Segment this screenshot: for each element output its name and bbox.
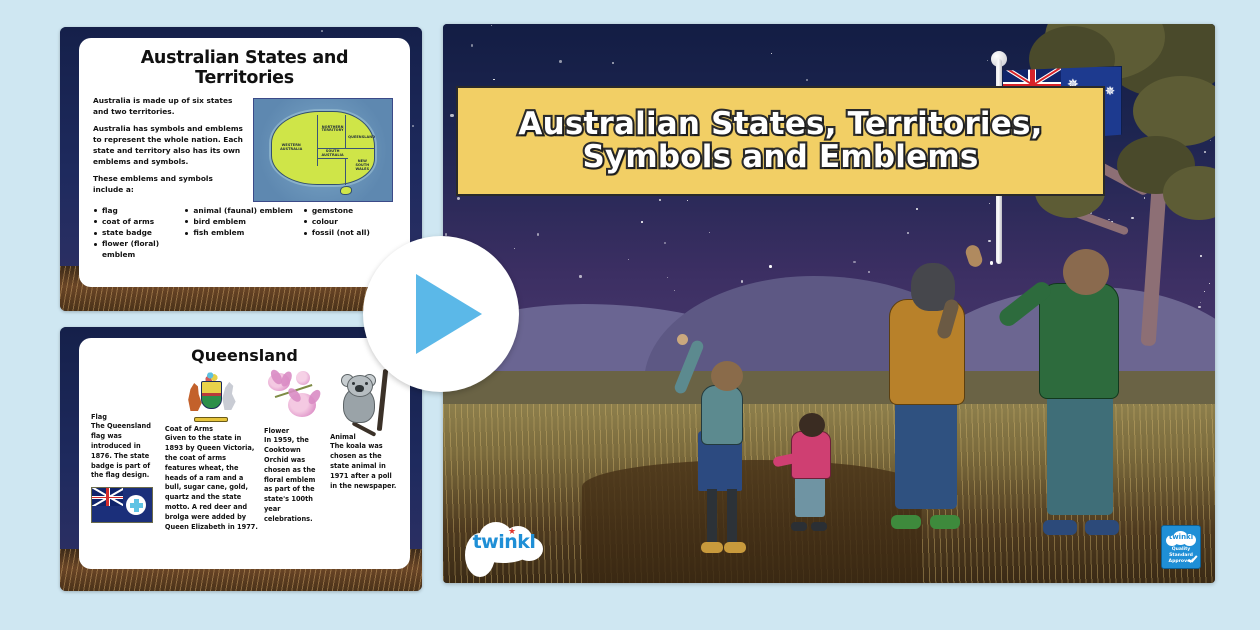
list-item: bird emblem bbox=[184, 216, 300, 227]
map-label-sa: SOUTH AUSTRALIA bbox=[320, 150, 345, 158]
main-title-line-2: Symbols and Emblems bbox=[582, 139, 978, 175]
slide-thumbnail-1[interactable]: Australian States and Territories Austra… bbox=[60, 27, 422, 311]
map-label-wa: WESTERN AUSTRALIA bbox=[275, 144, 308, 152]
check-icon bbox=[1187, 556, 1198, 567]
star bbox=[321, 30, 323, 32]
list-item: fossil (not all) bbox=[303, 227, 396, 238]
preview-stage: Australian States and Territories Austra… bbox=[0, 0, 1260, 630]
slide1-emblem-lists: flag coat of arms state badge flower (fl… bbox=[93, 205, 396, 261]
queensland-flag-icon bbox=[91, 487, 153, 523]
play-triangle-icon bbox=[416, 274, 482, 354]
section-coat-of-arms: Coat of Arms Given to the state in 1893 … bbox=[165, 369, 258, 533]
slide1-paragraph-3: These emblems and symbols include a: bbox=[93, 174, 245, 195]
map-label-nt: NORTHERN TERRITORY bbox=[320, 126, 345, 134]
emblem-list-column-1: flag coat of arms state badge flower (fl… bbox=[93, 205, 182, 261]
section-body: The koala was chosen as the state animal… bbox=[330, 442, 398, 491]
main-preview-slide[interactable]: ✵ ✵ ✵ ✵ ✵ ✵ Australian States, Territori… bbox=[443, 24, 1215, 583]
quality-standard-badge: twinkl Quality Standard Approved bbox=[1161, 525, 1201, 569]
slide-content-card: Australian States and Territories Austra… bbox=[79, 38, 410, 287]
section-flag: Flag The Queensland flag was introduced … bbox=[91, 369, 159, 523]
section-heading: Flower bbox=[264, 427, 324, 435]
map-label-nsw: NEW SOUTH WALES bbox=[351, 160, 374, 172]
map-of-australia-image: WESTERN AUSTRALIA NORTHERN TERRITORY QUE… bbox=[253, 98, 393, 202]
section-heading: Coat of Arms bbox=[165, 425, 258, 433]
section-heading: Flag bbox=[91, 413, 159, 421]
section-flower: Flower In 1959, the Cooktown Orchid was … bbox=[264, 369, 324, 525]
section-heading: Animal bbox=[330, 433, 398, 441]
slide1-title: Australian States and Territories bbox=[93, 48, 396, 88]
play-button[interactable] bbox=[363, 236, 519, 392]
slide1-paragraph-1: Australia is made up of six states and t… bbox=[93, 96, 245, 117]
main-title-line-1: Australian States, Territories, bbox=[518, 106, 1042, 142]
cooktown-orchid-icon bbox=[266, 369, 322, 425]
slide2-title: Queensland bbox=[91, 346, 398, 365]
section-animal: Animal The koala was chosen as the state… bbox=[330, 369, 398, 491]
slide-title-banner: Australian States, Territories, Symbols … bbox=[456, 86, 1105, 196]
map-label-qld: QUEENSLAND bbox=[348, 136, 376, 140]
twinkl-logo: ★ twinkl bbox=[463, 519, 545, 565]
slide1-paragraph-2: Australia has symbols and emblems to rep… bbox=[93, 124, 245, 167]
koala-icon bbox=[333, 369, 395, 431]
slide-content-card: Queensland Flag The Queensland flag was … bbox=[79, 338, 410, 569]
star bbox=[412, 125, 414, 127]
section-body: The Queensland flag was introduced in 18… bbox=[91, 422, 159, 481]
list-item: flag bbox=[93, 205, 182, 216]
slide-thumbnail-2[interactable]: Queensland Flag The Queensland flag was … bbox=[60, 327, 422, 591]
list-item: gemstone bbox=[303, 205, 396, 216]
list-item: flower (floral) bbox=[93, 238, 182, 249]
twinkl-wordmark: twinkl bbox=[463, 531, 545, 553]
list-item: colour bbox=[303, 216, 396, 227]
emblem-list-column-2: animal (faunal) emblem bird emblem fish … bbox=[184, 205, 300, 261]
emblem-list-column-3: gemstone colour fossil (not all) bbox=[303, 205, 396, 261]
section-body: In 1959, the Cooktown Orchid was chosen … bbox=[264, 436, 324, 525]
section-body: Given to the state in 1893 by Queen Vict… bbox=[165, 434, 258, 533]
coat-of-arms-icon bbox=[185, 369, 237, 423]
badge-wordmark: twinkl bbox=[1166, 533, 1196, 541]
list-item: state badge bbox=[93, 227, 182, 238]
list-item: animal (faunal) emblem bbox=[184, 205, 300, 216]
list-item: emblem bbox=[93, 249, 182, 260]
list-item: fish emblem bbox=[184, 227, 300, 238]
slide1-text-block: Australia is made up of six states and t… bbox=[93, 96, 245, 203]
list-item: coat of arms bbox=[93, 216, 182, 227]
